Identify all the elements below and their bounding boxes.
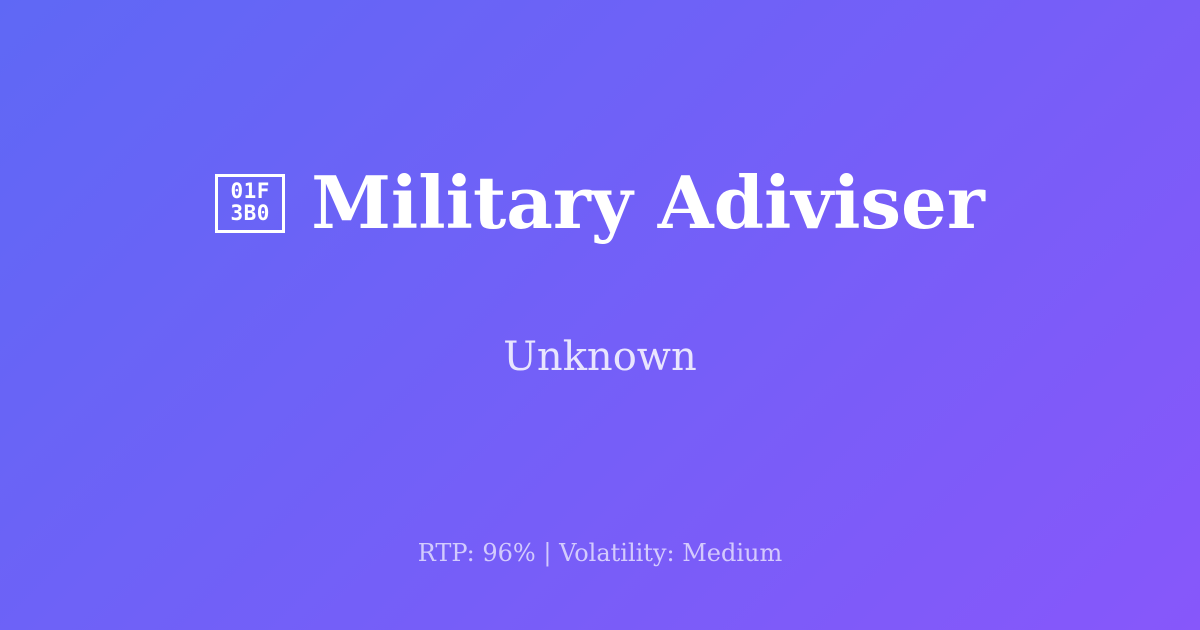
page-title: Military Adiviser [311,165,985,241]
tofu-codepoint-bottom: 3B0 [231,203,270,225]
social-share-card: 01F 3B0 Military Adiviser Unknown RTP: 9… [0,0,1200,630]
tofu-codepoint-top: 01F [231,181,270,203]
title-row: 01F 3B0 Military Adiviser [215,117,985,289]
page-subtitle: Unknown [503,333,697,381]
hero-block: 01F 3B0 Military Adiviser Unknown [0,0,1200,498]
game-stats-line: RTP: 96% | Volatility: Medium [0,539,1200,568]
slot-machine-emoji-tofu-icon: 01F 3B0 [215,174,285,233]
